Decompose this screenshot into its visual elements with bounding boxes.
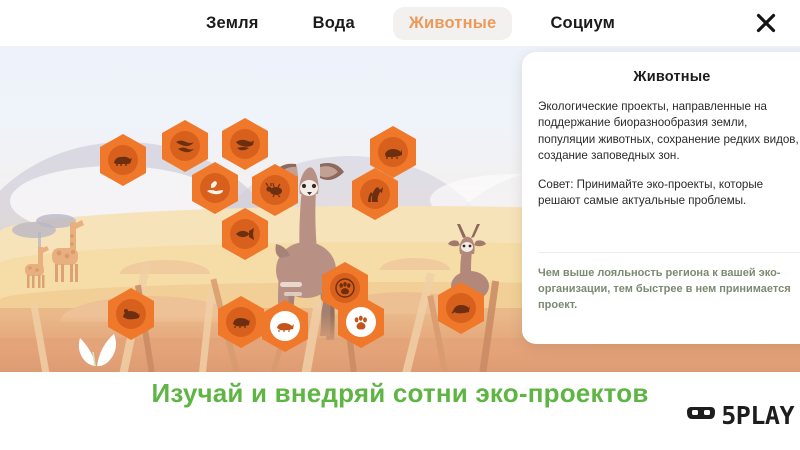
info-panel: Животные Экологические проекты, направле… [522,52,800,344]
panel-footer: Чем выше лояльность региона к вашей эко-… [538,252,800,314]
fish-icon [230,219,260,249]
leopard-icon [378,137,408,167]
whale-icon [230,129,260,159]
panel-footer-note: Чем выше лояльность региона к вашей эко-… [538,266,800,314]
close-icon[interactable] [750,7,782,39]
bear-icon [116,299,146,329]
paw-print-icon [346,307,376,337]
giraffe-large [48,214,88,286]
fox-icon [446,293,476,323]
hand-plant-icon [200,173,230,203]
tab-voda[interactable]: Вода [297,7,371,40]
paw-circle-icon [330,273,360,303]
top-bar: Земля Вода Животные Социум [0,0,800,46]
wolf-howl-icon [360,179,390,209]
rhino-icon [108,145,138,175]
panel-paragraph-2: Совет: Принимайте эко-проекты, которые р… [538,177,800,210]
page-headline: Изучай и внедряй сотни эко-проектов [0,378,800,409]
watermark-text: 5PLAY [721,401,794,430]
robot-controller-icon [687,403,715,428]
tab-socium[interactable]: Социум [534,7,631,40]
tab-zemlya[interactable]: Земля [190,7,275,40]
insect-icon [260,175,290,205]
panel-title: Животные [522,69,800,85]
boar-icon [270,311,300,341]
giraffe-small [22,242,52,290]
app-root: Земля Вода Животные Социум [0,0,800,450]
tab-zhivotnye[interactable]: Животные [393,7,513,40]
panel-paragraph-1: Экологические проекты, направленные на п… [538,99,800,165]
watermark: 5PLAY [687,401,794,430]
panel-body: Экологические проекты, направленные на п… [522,99,800,210]
bird-flying-icon [170,131,200,161]
tab-bar: Земля Вода Животные Социум [190,0,631,46]
bison-icon [226,307,256,337]
